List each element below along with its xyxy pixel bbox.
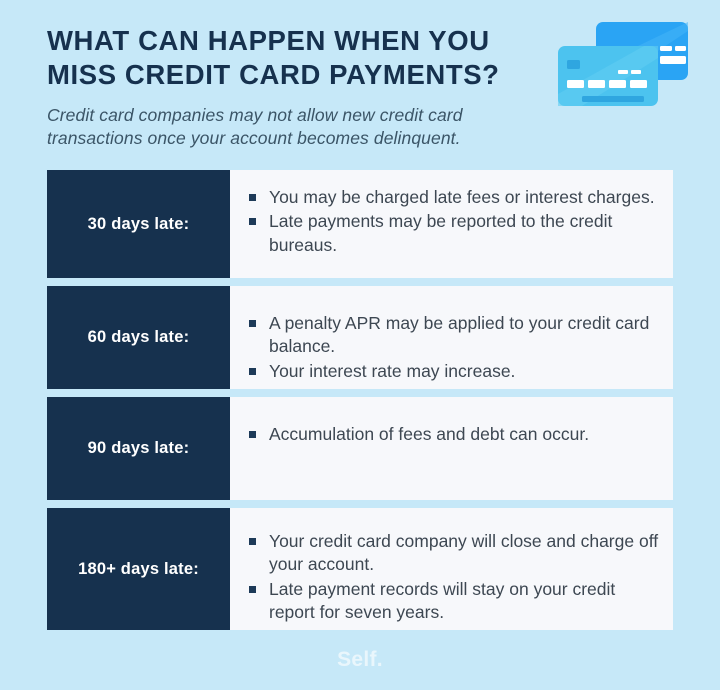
bullet-list: Accumulation of fees and debt can occur. (243, 423, 659, 446)
list-item-text: A penalty APR may be applied to your cre… (269, 313, 649, 356)
credit-cards-icon (556, 18, 696, 116)
table-row: 180+ days late: Your credit card company… (47, 508, 673, 630)
row-label: 90 days late: (47, 397, 230, 500)
list-item-text: Your interest rate may increase. (269, 361, 515, 381)
bullet-list: A penalty APR may be applied to your cre… (243, 312, 659, 383)
list-item-text: You may be charged late fees or interest… (269, 187, 655, 207)
header: WHAT CAN HAPPEN WHEN YOU MISS CREDIT CAR… (47, 24, 547, 150)
bullet-square-icon (249, 586, 256, 593)
list-item-text: Late payments may be reported to the cre… (269, 211, 612, 254)
table-row: 30 days late: You may be charged late fe… (47, 170, 673, 278)
list-item-text: Accumulation of fees and debt can occur. (269, 424, 589, 444)
table-row: 90 days late: Accumulation of fees and d… (47, 397, 673, 500)
list-item: Accumulation of fees and debt can occur. (243, 423, 659, 446)
bullet-square-icon (249, 194, 256, 201)
list-item: Late payment records will stay on your c… (243, 578, 659, 625)
page-title: WHAT CAN HAPPEN WHEN YOU MISS CREDIT CAR… (47, 24, 547, 92)
row-content: You may be charged late fees or interest… (230, 170, 673, 278)
bullet-square-icon (249, 320, 256, 327)
row-content: A penalty APR may be applied to your cre… (230, 286, 673, 389)
row-content: Accumulation of fees and debt can occur. (230, 397, 673, 500)
list-item: Your credit card company will close and … (243, 530, 659, 577)
timeline-rows: 30 days late: You may be charged late fe… (47, 170, 673, 630)
row-label: 60 days late: (47, 286, 230, 389)
row-label: 180+ days late: (47, 508, 230, 630)
page-subtitle: Credit card companies may not allow new … (47, 104, 547, 150)
list-item-text: Your credit card company will close and … (269, 531, 658, 574)
brand-logo: Self. (337, 648, 383, 671)
list-item: Your interest rate may increase. (243, 360, 659, 383)
row-content: Your credit card company will close and … (230, 508, 673, 630)
list-item: A penalty APR may be applied to your cre… (243, 312, 659, 359)
footer: Self. (0, 648, 720, 672)
list-item-text: Late payment records will stay on your c… (269, 579, 615, 622)
bullet-square-icon (249, 431, 256, 438)
bullet-list: You may be charged late fees or interest… (243, 186, 659, 257)
bullet-square-icon (249, 538, 256, 545)
infographic-canvas: WHAT CAN HAPPEN WHEN YOU MISS CREDIT CAR… (0, 0, 720, 690)
bullet-list: Your credit card company will close and … (243, 530, 659, 625)
bullet-square-icon (249, 368, 256, 375)
list-item: You may be charged late fees or interest… (243, 186, 659, 209)
list-item: Late payments may be reported to the cre… (243, 210, 659, 257)
bullet-square-icon (249, 218, 256, 225)
row-label: 30 days late: (47, 170, 230, 278)
table-row: 60 days late: A penalty APR may be appli… (47, 286, 673, 389)
